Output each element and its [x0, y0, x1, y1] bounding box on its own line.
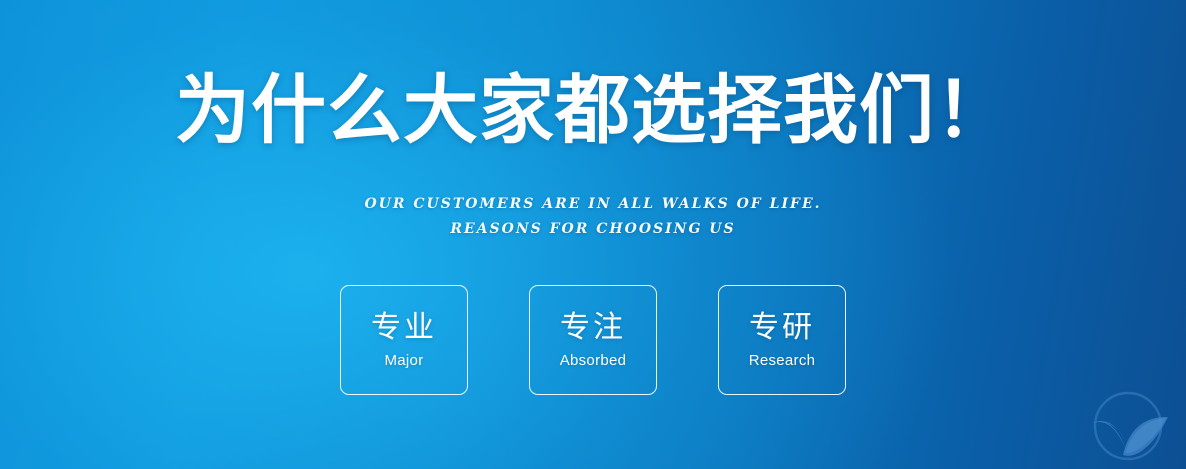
- title-block: 为什么大家都选择我们！: [0, 68, 1186, 152]
- feature-card-major[interactable]: 专业 Major: [340, 285, 468, 395]
- promo-banner: 为什么大家都选择我们！ OUR CUSTOMERS ARE IN ALL WAL…: [0, 0, 1186, 469]
- feature-card-title-cn: 专注: [560, 311, 626, 344]
- feature-card-row: 专业 Major 专注 Absorbed 专研 Research: [0, 285, 1186, 395]
- feature-card-title-en: Absorbed: [560, 353, 627, 370]
- feature-card-research[interactable]: 专研 Research: [718, 285, 846, 395]
- subtitle-block: OUR CUSTOMERS ARE IN ALL WALKS OF LIFE. …: [0, 192, 1186, 242]
- feature-card-title-en: Research: [749, 353, 816, 370]
- feature-card-absorbed[interactable]: 专注 Absorbed: [529, 285, 657, 395]
- feature-card-title-en: Major: [384, 353, 423, 370]
- feature-card-title-cn: 专业: [371, 311, 437, 344]
- subtitle-line-2: REASONS FOR CHOOSING US: [0, 217, 1186, 242]
- page-title: 为什么大家都选择我们！: [0, 68, 1186, 152]
- feature-card-title-cn: 专研: [749, 311, 815, 344]
- subtitle-line-1: OUR CUSTOMERS ARE IN ALL WALKS OF LIFE.: [0, 192, 1186, 217]
